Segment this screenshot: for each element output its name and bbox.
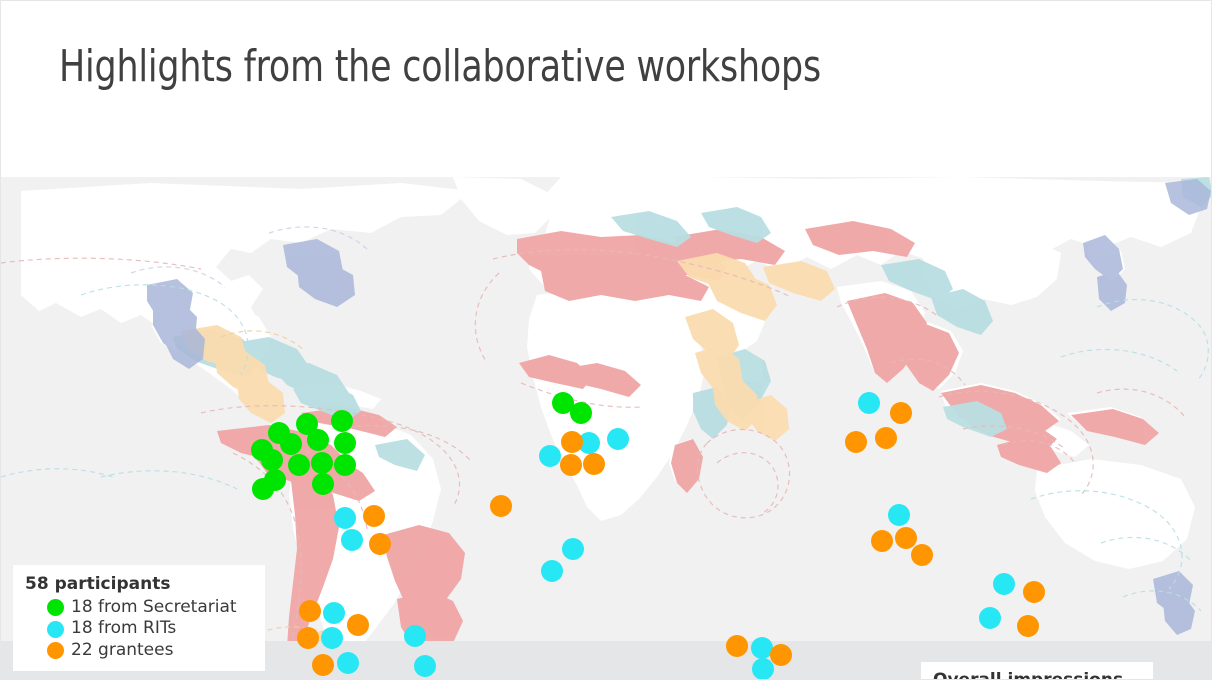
map-marker-grantees <box>490 495 512 517</box>
map-marker-rits <box>414 655 436 677</box>
map-marker-grantees <box>561 431 583 453</box>
map-marker-rits <box>541 560 563 582</box>
map-marker-grantees <box>583 453 605 475</box>
map-marker-grantees <box>560 454 582 476</box>
map-marker-grantees <box>770 644 792 666</box>
circle-marker-icon <box>47 599 64 616</box>
map-marker-rits <box>752 658 774 680</box>
map-marker-grantees <box>726 635 748 657</box>
map-marker-grantees <box>299 600 321 622</box>
map-marker-secretariat <box>331 410 353 432</box>
map-marker-grantees <box>347 614 369 636</box>
map-marker-grantees <box>1023 581 1045 603</box>
map-marker-rits <box>562 538 584 560</box>
map-marker-rits <box>607 428 629 450</box>
map-marker-secretariat <box>334 432 356 454</box>
legend-item: 22 grantees <box>25 640 253 662</box>
map-marker-grantees <box>312 654 334 676</box>
map-marker-rits <box>539 445 561 467</box>
slide-canvas: Highlights from the collaborative worksh… <box>0 0 1212 680</box>
legend-rows: 18 from Secretariat18 from RITs22 grante… <box>25 597 253 662</box>
map-marker-grantees <box>911 544 933 566</box>
legend-item-label: 22 grantees <box>71 640 173 662</box>
legend-title: 58 participants <box>25 574 253 596</box>
map-marker-secretariat <box>312 473 334 495</box>
map-marker-grantees <box>875 427 897 449</box>
map-marker-grantees <box>363 505 385 527</box>
map-marker-rits <box>321 627 343 649</box>
map-marker-grantees <box>297 627 319 649</box>
map-marker-rits <box>334 507 356 529</box>
map-marker-secretariat <box>252 478 274 500</box>
map-marker-secretariat <box>570 402 592 424</box>
slide-header: Highlights from the collaborative worksh… <box>1 1 1212 177</box>
participants-legend: 58 participants 18 from Secretariat18 fr… <box>13 565 265 671</box>
map-marker-secretariat <box>311 452 333 474</box>
map-marker-secretariat <box>288 454 310 476</box>
legend-item-label: 18 from Secretariat <box>71 597 237 619</box>
map-marker-grantees <box>890 402 912 424</box>
map-marker-rits <box>888 504 910 526</box>
map-marker-secretariat <box>307 429 329 451</box>
circle-marker-icon <box>47 621 64 638</box>
map-marker-grantees <box>845 431 867 453</box>
map-marker-secretariat <box>334 454 356 476</box>
map-marker-grantees <box>871 530 893 552</box>
map-marker-rits <box>979 607 1001 629</box>
legend-item: 18 from RITs <box>25 618 253 640</box>
map-marker-secretariat <box>280 433 302 455</box>
map-marker-rits <box>858 392 880 414</box>
world-map: 58 participants 18 from Secretariat18 fr… <box>1 177 1212 680</box>
circle-marker-icon <box>47 642 64 659</box>
legend-item: 18 from Secretariat <box>25 597 253 619</box>
map-marker-rits <box>404 625 426 647</box>
overall-impressions-box: Overall impressions - Strong engagement-… <box>921 662 1153 680</box>
legend-item-label: 18 from RITs <box>71 618 176 640</box>
impressions-title: Overall impressions <box>933 670 1143 680</box>
map-marker-secretariat <box>261 449 283 471</box>
page-title: Highlights from the collaborative worksh… <box>59 41 821 92</box>
map-marker-rits <box>337 652 359 674</box>
map-marker-grantees <box>369 533 391 555</box>
map-marker-grantees <box>1017 615 1039 637</box>
map-marker-rits <box>993 573 1015 595</box>
map-marker-grantees <box>895 527 917 549</box>
map-marker-rits <box>341 529 363 551</box>
map-marker-rits <box>323 602 345 624</box>
